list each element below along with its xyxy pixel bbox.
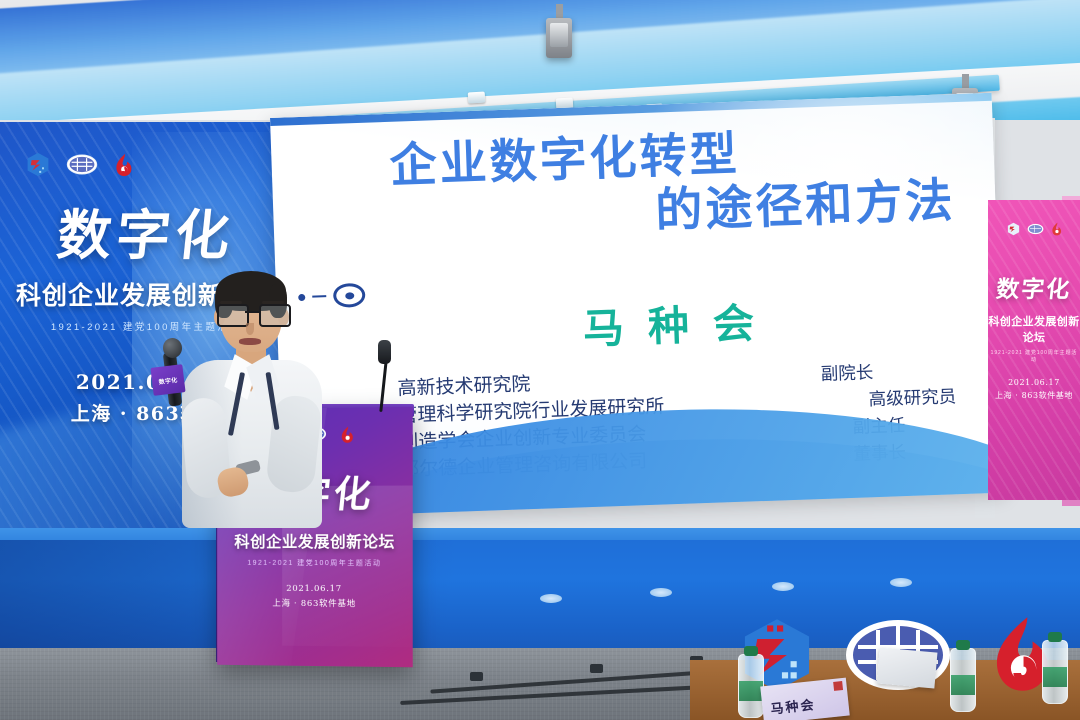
right-banner-date: 2021.06.17: [988, 378, 1080, 387]
name-card-blank: [877, 648, 938, 689]
speaker-nose: [246, 323, 254, 335]
right-banner-subtitle: 科创企业发展创新论坛: [988, 313, 1080, 345]
podium-subtitle: 科创企业发展创新论坛: [217, 530, 413, 552]
right-banner-date-block: 2021.06.17 上海 · 863软件基地: [988, 378, 1080, 401]
bottle-cap: [956, 640, 970, 650]
cable-clip: [590, 664, 603, 673]
podium-date: 2021.06.17: [217, 584, 413, 595]
water-bottle: [950, 648, 976, 712]
speaker-person: [174, 276, 334, 526]
bottle-label: [739, 681, 763, 701]
podium-years: 1921-2021 建党100周年主题活动: [217, 558, 413, 569]
gooseneck-mic-head: [378, 340, 391, 364]
glasses-lens-right: [259, 304, 291, 327]
stage-floor-light: [540, 594, 562, 603]
left-banner-logo-row: [26, 152, 133, 177]
right-event-banner: 数字化 科创企业发展创新论坛 1921-2021 建党100周年主题活动 202…: [988, 200, 1080, 500]
research-institute-logo-icon: [66, 153, 98, 176]
name-card-tag: [833, 681, 843, 691]
flame-logo-icon: [1051, 222, 1062, 241]
right-banner-years: 1921-2021 建党100周年主题活动: [988, 349, 1080, 363]
microphone-flag: 数字化: [150, 364, 185, 396]
cable-clip: [470, 672, 483, 681]
name-card-label: 马种会: [770, 694, 817, 718]
truss-light: [468, 91, 486, 103]
right-banner-location: 上海 · 863软件基地: [988, 390, 1080, 401]
right-banner-logo-row: [988, 222, 1080, 241]
bottle-label: [1043, 667, 1067, 687]
flame-logo-icon: [340, 426, 354, 449]
affiliation-role: 副院长: [820, 361, 873, 388]
stage-floor-light: [650, 588, 672, 597]
speaker-glasses: [217, 304, 287, 323]
shanghai-sti-logo-icon: [1007, 222, 1020, 241]
shanghai-sti-logo-icon: [26, 152, 50, 177]
right-banner-artwork: 数字化 科创企业发展创新论坛 1921-2021 建党100周年主题活动: [988, 270, 1080, 363]
left-banner-headline: 数字化: [0, 208, 292, 262]
stage-floor-light: [772, 582, 794, 591]
glasses-bridge: [245, 311, 259, 313]
podium-date-block: 2021.06.17 上海 · 863软件基地: [217, 584, 413, 610]
stage-floor-light: [890, 578, 912, 587]
glasses-lens-left: [217, 304, 249, 327]
affiliation-role: 高级研究员: [868, 385, 956, 413]
ceiling-spotlight: [546, 18, 572, 58]
podium-location: 上海 · 863软件基地: [217, 596, 413, 609]
water-bottle: [1042, 640, 1068, 704]
flame-logo-icon: [114, 153, 133, 177]
right-banner-headline: 数字化: [988, 270, 1080, 304]
research-institute-logo-icon: [1027, 222, 1044, 241]
bottle-cap: [1048, 632, 1062, 642]
bottle-label: [951, 675, 975, 695]
bottle-cap: [744, 646, 758, 656]
conference-stage-photo: 数字化 科创企业发展创新论坛 1921-2021 建党100周年主题活动 202…: [0, 0, 1080, 720]
speaker-mouth: [239, 338, 261, 345]
microphone-flag-label: 数字化: [158, 374, 178, 385]
slide-title: 企业数字化转型 的途径和方法: [389, 121, 982, 247]
